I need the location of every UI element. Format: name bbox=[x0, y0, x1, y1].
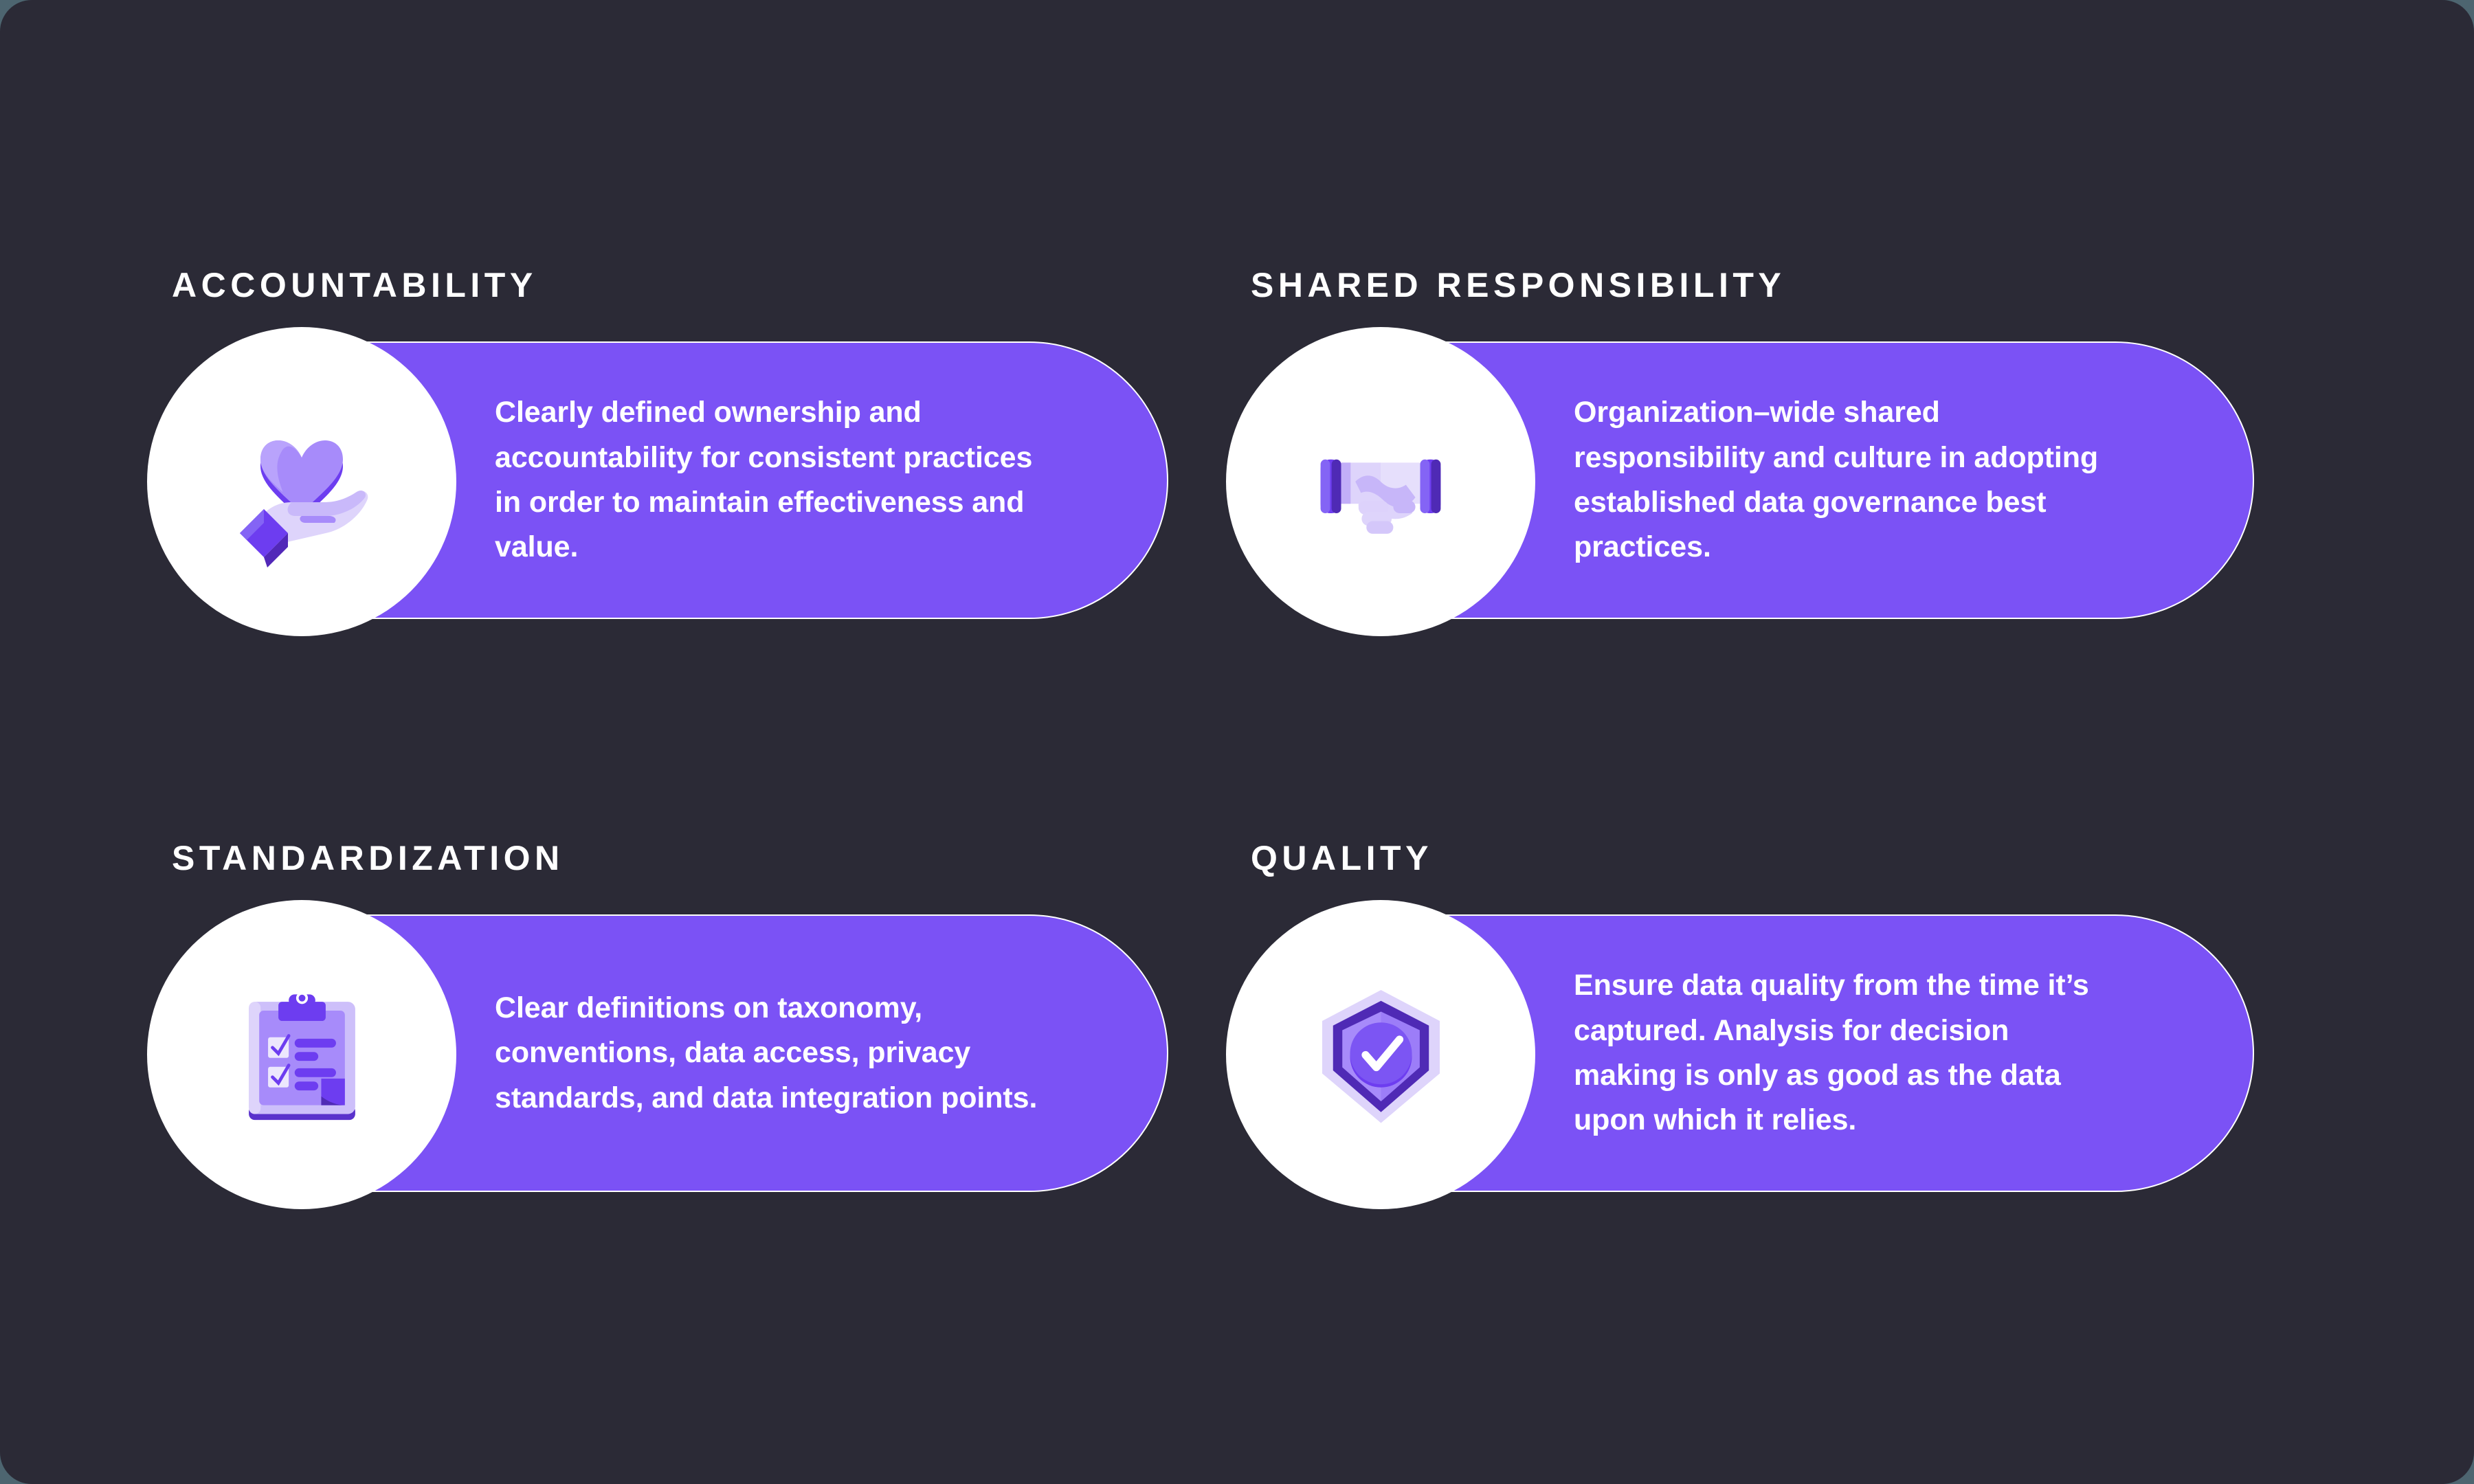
icon-circle-accountability bbox=[147, 327, 456, 636]
card-standardization[interactable]: STANDARDIZATION bbox=[172, 841, 1251, 1209]
card-pill-standardization[interactable]: Clear definitions on taxonomy, conventio… bbox=[172, 914, 1168, 1192]
card-shared-responsibility[interactable]: SHARED RESPONSIBILITY bbox=[1251, 268, 2302, 636]
card-title-quality: QUALITY bbox=[1251, 841, 2302, 875]
infographic-page: ACCOUNTABILITY bbox=[0, 0, 2474, 1484]
handshake-icon bbox=[1302, 403, 1460, 561]
icon-circle-shared-responsibility bbox=[1226, 327, 1535, 636]
card-title-standardization: STANDARDIZATION bbox=[172, 841, 1251, 875]
icon-circle-standardization bbox=[147, 900, 456, 1209]
card-quality[interactable]: QUALITY bbox=[1251, 841, 2302, 1209]
card-body-standardization: Clear definitions on taxonomy, conventio… bbox=[495, 986, 1045, 1121]
card-body-accountability: Clearly defined ownership and accountabi… bbox=[495, 390, 1045, 570]
cards-grid: ACCOUNTABILITY bbox=[172, 268, 2302, 1209]
card-body-shared-responsibility: Organization–wide shared responsibility … bbox=[1574, 390, 2117, 570]
card-pill-shared-responsibility[interactable]: Organization–wide shared responsibility … bbox=[1251, 341, 2254, 619]
card-title-shared-responsibility: SHARED RESPONSIBILITY bbox=[1251, 268, 2302, 302]
card-accountability[interactable]: ACCOUNTABILITY bbox=[172, 268, 1251, 636]
card-title-accountability: ACCOUNTABILITY bbox=[172, 268, 1251, 302]
icon-circle-quality bbox=[1226, 900, 1535, 1209]
card-pill-quality[interactable]: Ensure data quality from the time it’s c… bbox=[1251, 914, 2254, 1192]
heart-in-hand-icon bbox=[216, 396, 388, 567]
clipboard-checklist-icon bbox=[228, 981, 376, 1129]
card-pill-accountability[interactable]: Clearly defined ownership and accountabi… bbox=[172, 341, 1168, 619]
shield-check-icon bbox=[1304, 978, 1458, 1132]
card-body-quality: Ensure data quality from the time it’s c… bbox=[1574, 963, 2117, 1143]
